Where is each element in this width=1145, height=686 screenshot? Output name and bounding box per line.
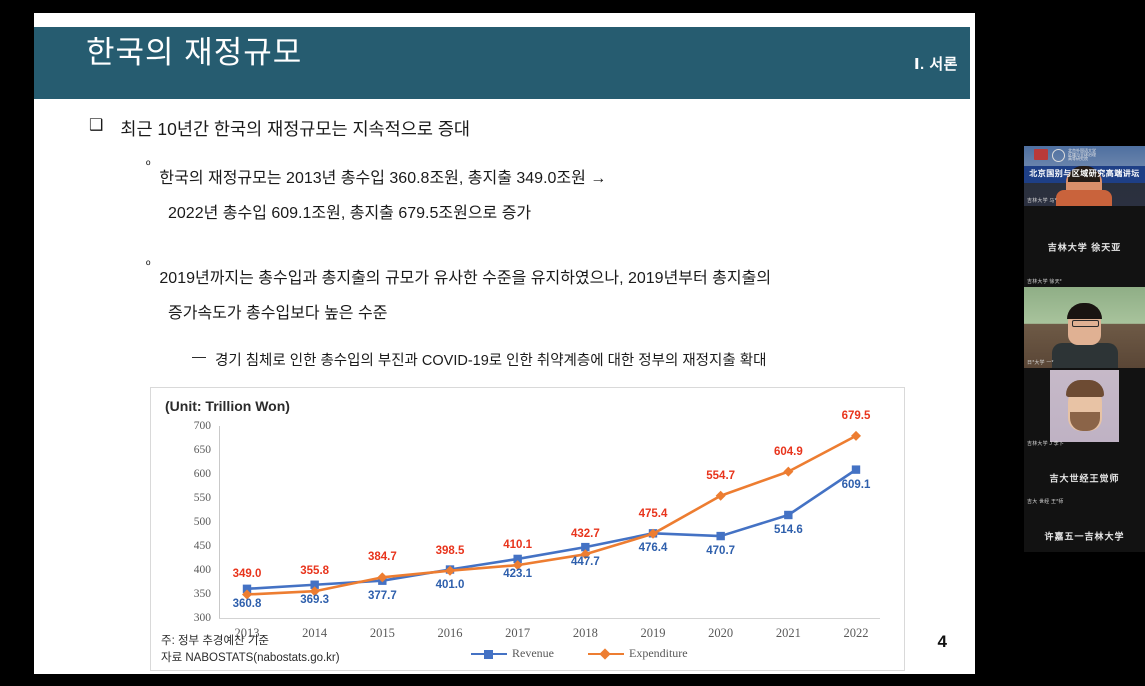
y-axis-tick: 450 bbox=[194, 540, 211, 552]
section-label: Ⅰ. 서론 bbox=[914, 53, 958, 74]
participant-display-name: 许嘉五一吉林大学 bbox=[1024, 530, 1145, 543]
data-label: 401.0 bbox=[436, 579, 465, 591]
y-axis-tick: 500 bbox=[194, 516, 211, 528]
series-line-expenditure bbox=[247, 436, 856, 595]
data-label: 398.5 bbox=[436, 545, 465, 557]
y-axis-tick: 650 bbox=[194, 444, 211, 456]
chart-note-2: 자료 NABOSTATS(nabostats.go.kr) bbox=[161, 649, 340, 665]
data-label: 369.3 bbox=[300, 594, 329, 606]
participant-display-name: 吉林大学 徐天亚 bbox=[1024, 240, 1145, 253]
series-line-revenue bbox=[247, 470, 856, 589]
video-tile-2[interactable]: 日*大学 一* bbox=[1024, 287, 1145, 368]
data-label: 679.5 bbox=[842, 410, 871, 422]
data-point-marker bbox=[783, 467, 793, 477]
legend-label-revenue: Revenue bbox=[512, 646, 554, 661]
video-tile-5[interactable]: 许嘉五一吉林大学 吉林大学二一 徐天亚 bbox=[1024, 507, 1145, 552]
participant-name: 吉林大学 徐天* bbox=[1027, 278, 1062, 285]
bullet-level2-b-line2: 증가속도가 총수입보다 높은 수준 bbox=[168, 299, 387, 323]
y-axis-tick: 400 bbox=[194, 564, 211, 576]
data-point-marker bbox=[716, 532, 724, 540]
data-label: 554.7 bbox=[706, 470, 735, 482]
data-label: 349.0 bbox=[233, 568, 262, 580]
x-axis-tick: 2021 bbox=[776, 626, 801, 641]
legend-square-marker-icon bbox=[471, 649, 507, 659]
x-axis-tick: 2019 bbox=[641, 626, 666, 641]
y-axis-tick: 300 bbox=[194, 612, 211, 624]
participant-name: 吉大 世经 王*师 bbox=[1027, 498, 1064, 505]
bullet-level2-b: º 2019년까지는 총수입과 총지출의 규모가 유사한 수준을 유지하였으나,… bbox=[146, 258, 771, 299]
bullet-level1: ❑ 최근 10년간 한국의 재정규모는 지속적으로 증대 bbox=[89, 116, 470, 141]
seal-logo-icon bbox=[1052, 149, 1065, 162]
video-conference-sidebar[interactable]: 北京外国语大学区域与全球治理高等研究院 北京国别与区域研究高端讲坛 吉林大学 马… bbox=[1024, 146, 1145, 552]
bullet-level1-text: 최근 10년간 한국의 재정규모는 지속적으로 증대 bbox=[120, 116, 470, 141]
data-point-marker bbox=[716, 491, 726, 501]
presentation-slide: 한국의 재정규모 Ⅰ. 서론 ❑ 최근 10년간 한국의 재정규모는 지속적으로… bbox=[34, 13, 975, 674]
data-label: 447.7 bbox=[571, 556, 600, 568]
data-label: 475.4 bbox=[639, 508, 668, 520]
data-label: 514.6 bbox=[774, 524, 803, 536]
x-axis-tick: 2018 bbox=[573, 626, 598, 641]
participant-video-frame bbox=[1050, 370, 1119, 442]
participant-torso bbox=[1056, 190, 1112, 206]
video-tile-3[interactable]: 吉林大学 J 李卜 bbox=[1024, 368, 1145, 449]
video-tile-0[interactable]: 北京外国语大学区域与全球治理高等研究院 北京国别与区域研究高端讲坛 吉林大学 马… bbox=[1024, 146, 1145, 206]
chart-legend: Revenue Expenditure bbox=[471, 646, 688, 661]
line-chart: (Unit: Trillion Won) 7006506005505004504… bbox=[150, 387, 905, 671]
chart-note-1: 주: 정부 추경예산 기준 bbox=[161, 632, 269, 648]
video-tile-1[interactable]: 吉林大学 徐天亚 吉林大学 徐天* bbox=[1024, 206, 1145, 287]
square-bullet-icon: ❑ bbox=[89, 118, 103, 134]
y-axis-tick: 550 bbox=[194, 492, 211, 504]
bullet-level2-b-line1: 2019년까지는 총수입과 총지출의 규모가 유사한 수준을 유지하였으나, 2… bbox=[159, 258, 771, 299]
participant-display-name: 吉大世经王觉师 bbox=[1024, 472, 1145, 485]
data-label: 609.1 bbox=[842, 479, 871, 491]
data-label: 355.8 bbox=[300, 565, 329, 577]
y-axis-tick: 600 bbox=[194, 468, 211, 480]
header-underline bbox=[34, 99, 970, 102]
data-label: 360.8 bbox=[233, 598, 262, 610]
data-label: 384.7 bbox=[368, 551, 397, 563]
chart-unit-label: (Unit: Trillion Won) bbox=[165, 398, 290, 414]
bullet-level2-a: º 한국의 재정규모는 2013년 총수입 360.8조원, 총지출 349.0… bbox=[146, 158, 606, 199]
legend-item-revenue: Revenue bbox=[471, 646, 554, 661]
y-axis-tick: 700 bbox=[194, 420, 211, 432]
flag-logo-icon bbox=[1034, 149, 1048, 160]
data-label: 432.7 bbox=[571, 528, 600, 540]
circle-bullet-icon: º bbox=[146, 259, 150, 271]
bullet-level3-text: 경기 침체로 인한 총수입의 부진과 COVID-19로 인한 취약계층에 대한… bbox=[215, 349, 766, 370]
legend-diamond-marker-icon bbox=[588, 649, 624, 659]
page-number: 4 bbox=[938, 632, 947, 652]
participant-hair bbox=[1066, 380, 1104, 397]
bullet-level2-a-line2: 2022년 총수입 609.1조원, 총지출 679.5조원으로 증가 bbox=[168, 199, 531, 223]
data-point-marker bbox=[852, 465, 860, 473]
bullet-level3: — 경기 침체로 인한 총수입의 부진과 COVID-19로 인한 취약계층에 … bbox=[192, 349, 766, 370]
participant-name: 吉林大学 J 李卜 bbox=[1027, 440, 1064, 447]
data-label: 476.4 bbox=[639, 542, 668, 554]
data-label: 410.1 bbox=[503, 539, 532, 551]
data-label: 470.7 bbox=[706, 545, 735, 557]
x-axis-tick: 2017 bbox=[505, 626, 530, 641]
x-axis-tick: 2016 bbox=[438, 626, 463, 641]
tile-banner-text: 北京国别与区域研究高端讲坛 bbox=[1024, 168, 1145, 179]
legend-item-expenditure: Expenditure bbox=[588, 646, 688, 661]
circle-bullet-icon: º bbox=[146, 159, 150, 171]
institute-logo-text: 北京外国语大学区域与全球治理高等研究院 bbox=[1068, 149, 1096, 161]
data-point-marker bbox=[784, 511, 792, 519]
y-axis-tick: 350 bbox=[194, 588, 211, 600]
x-axis-line bbox=[219, 618, 880, 619]
dash-bullet-icon: — bbox=[192, 349, 206, 363]
glasses-icon bbox=[1072, 320, 1099, 327]
participant-name: 日*大学 一* bbox=[1027, 359, 1054, 366]
data-label: 377.7 bbox=[368, 590, 397, 602]
data-point-marker bbox=[851, 431, 861, 441]
bullet-level2-a-line1: 한국의 재정규모는 2013년 총수입 360.8조원, 총지출 349.0조원… bbox=[159, 158, 606, 199]
x-axis-tick: 2014 bbox=[302, 626, 327, 641]
chart-plot-area: 7006506005505004504003503002013201420152… bbox=[219, 426, 880, 618]
video-tile-4[interactable]: 吉大世经王觉师 吉大 世经 王*师 bbox=[1024, 449, 1145, 507]
x-axis-tick: 2022 bbox=[844, 626, 869, 641]
x-axis-tick: 2015 bbox=[370, 626, 395, 641]
x-axis-tick: 2020 bbox=[708, 626, 733, 641]
data-label: 423.1 bbox=[503, 568, 532, 580]
participant-hair bbox=[1067, 303, 1102, 319]
participant-torso bbox=[1052, 343, 1118, 368]
page-title: 한국의 재정규모 bbox=[86, 27, 302, 72]
legend-label-expenditure: Expenditure bbox=[629, 646, 688, 661]
participant-name: 吉林大学 马* bbox=[1027, 197, 1057, 204]
data-label: 604.9 bbox=[774, 446, 803, 458]
